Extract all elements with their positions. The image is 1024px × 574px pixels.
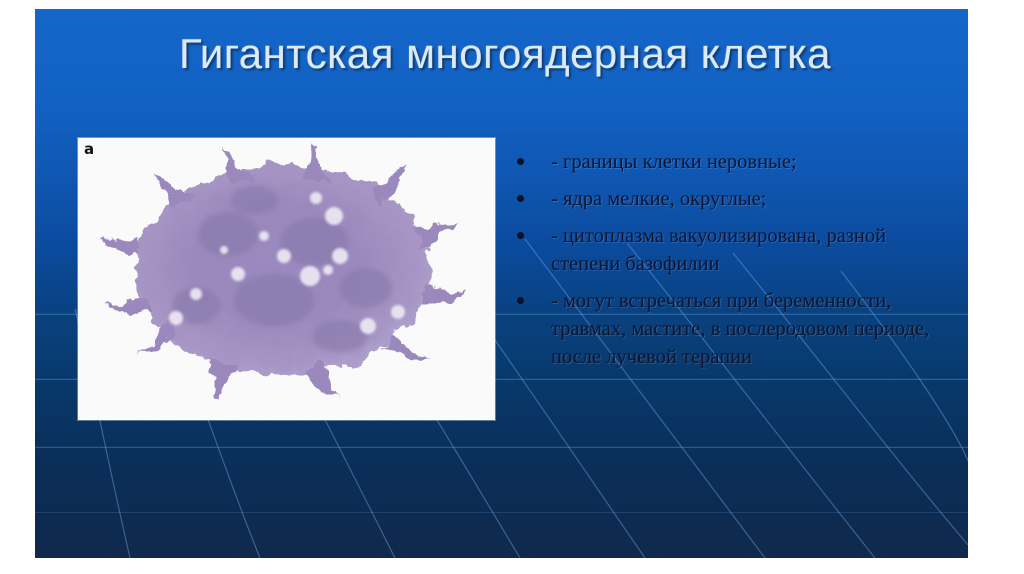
grid-latitude-line <box>35 512 968 513</box>
list-item[interactable]: - ядра мелкие, округлые; <box>505 185 935 213</box>
bullet-dot-icon <box>517 195 524 202</box>
presentation-viewer: Гигантская многоядерная клетка а <box>0 0 1024 574</box>
bullet-dot-icon <box>517 297 524 304</box>
list-item-label: - ядра мелкие, округлые; <box>551 185 935 213</box>
list-item-label: - границы клетки неровные; <box>551 148 935 176</box>
list-item[interactable]: - могут встречаться при беременности, тр… <box>505 287 935 371</box>
list-item[interactable]: - границы клетки неровные; <box>505 148 935 176</box>
slide-canvas: Гигантская многоядерная клетка а <box>35 9 968 558</box>
cell-image <box>78 138 495 420</box>
bullet-dot-icon <box>517 158 524 165</box>
list-item-label: - цитоплазма вакуолизирована, разной сте… <box>551 222 935 278</box>
grid-latitude-line <box>35 447 968 448</box>
list-item-label: - могут встречаться при беременности, тр… <box>551 287 935 371</box>
bullet-dot-icon <box>517 232 524 239</box>
bullet-list: - границы клетки неровные; - ядра мелкие… <box>505 148 935 380</box>
page-title: Гигантская многоядерная клетка <box>95 31 915 77</box>
micrograph-figure[interactable]: а <box>78 138 495 420</box>
figure-label: а <box>84 140 94 158</box>
list-item[interactable]: - цитоплазма вакуолизирована, разной сте… <box>505 222 935 278</box>
